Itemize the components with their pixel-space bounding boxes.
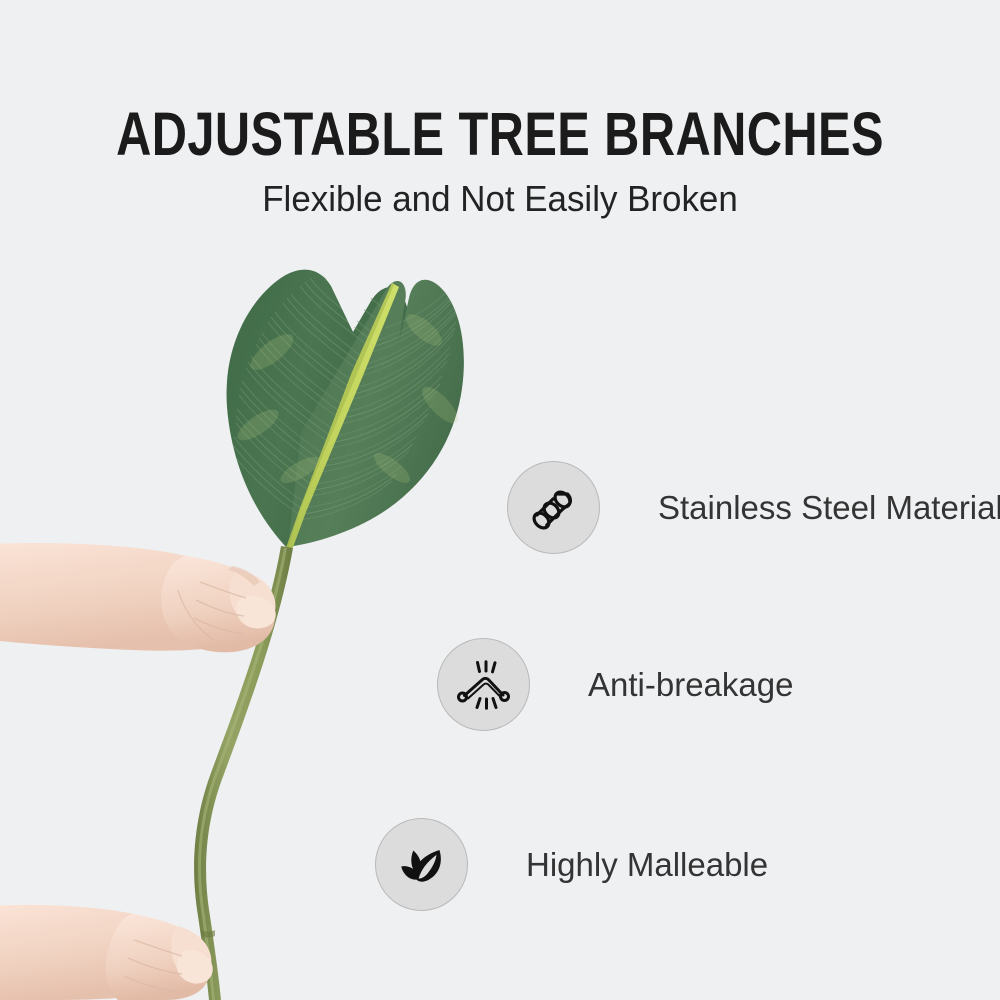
feature-label: Anti-breakage [588,668,793,701]
page-subtitle: Flexible and Not Easily Broken [15,181,985,217]
bending-rod-icon [454,655,514,715]
feature-badge [375,818,468,911]
stress-rays-bottom [477,698,496,708]
leaf [227,265,464,550]
upper-hand [0,543,276,652]
lower-hand [0,905,213,1000]
feature-badge [507,461,600,554]
page-title: ADJUSTABLE TREE BRANCHES [100,104,900,165]
steel-tubes-icon [524,478,584,538]
stress-rays-top [477,661,495,671]
feature-label: Stainless Steel Material [658,491,1000,524]
product-feature-poster: ADJUSTABLE TREE BRANCHES Flexible and No… [0,0,1000,1000]
feature-item-stainless-steel: Stainless Steel Material [507,461,1000,554]
feature-badge [437,638,530,731]
feature-item-anti-breakage: Anti-breakage [437,638,793,731]
feature-item-highly-malleable: Highly Malleable [375,818,768,911]
leaves-icon [393,836,451,894]
feature-label: Highly Malleable [526,848,768,881]
